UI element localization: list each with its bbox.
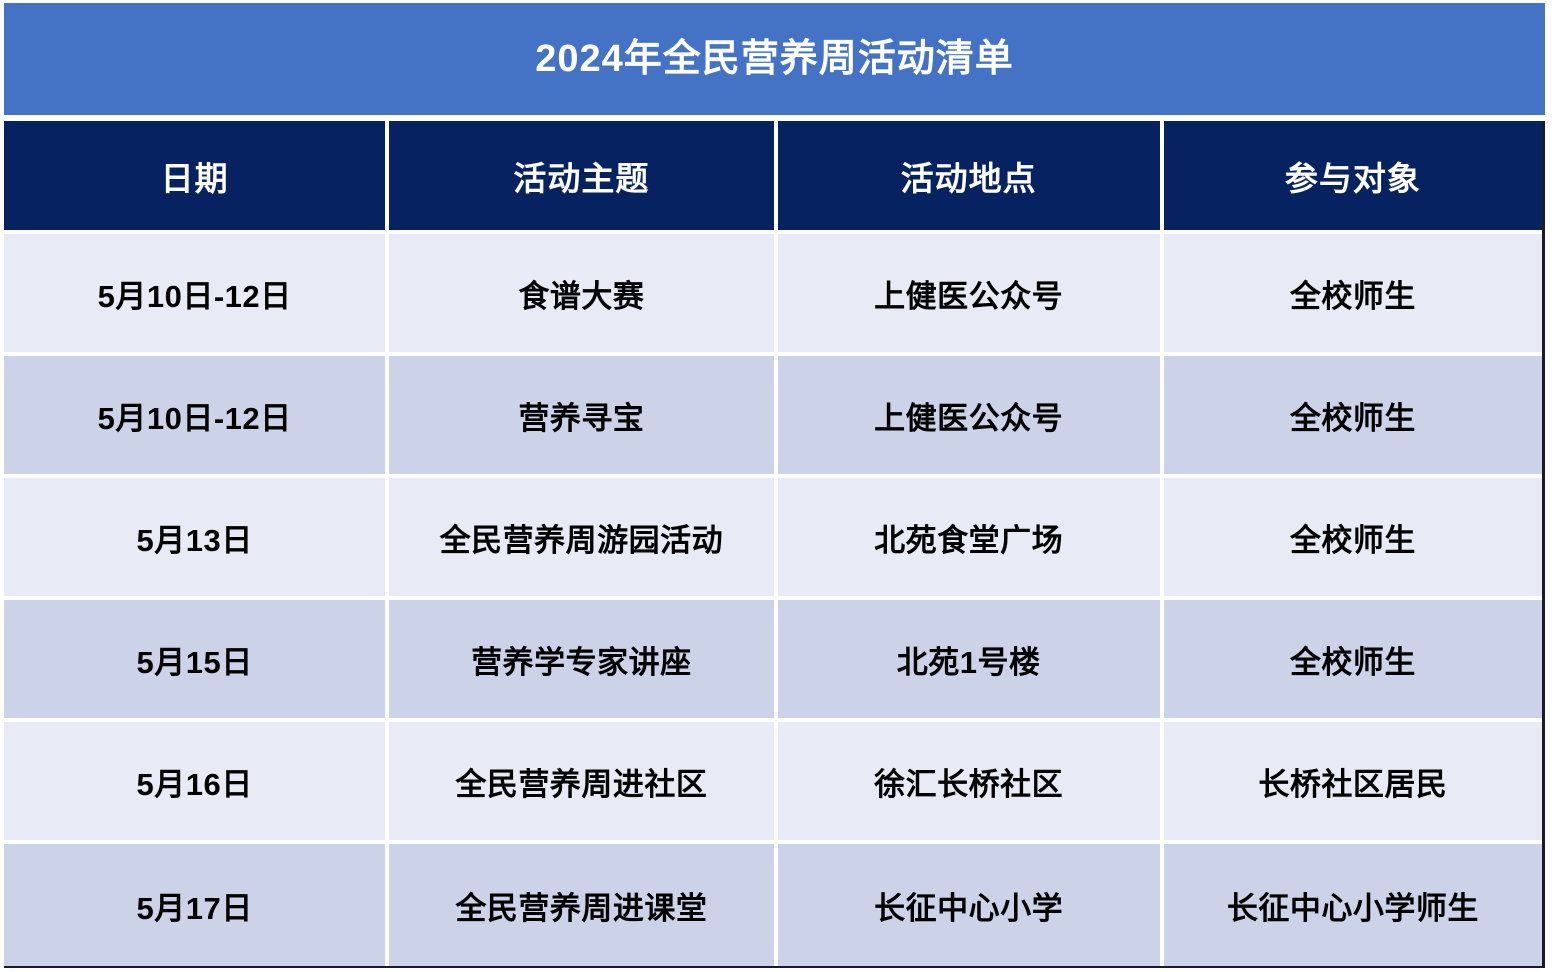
cell-theme: 全民营养周游园活动: [389, 478, 777, 600]
cell-place: 上健医公众号: [778, 356, 1164, 478]
cell-place: 上健医公众号: [778, 234, 1164, 356]
cell-theme: 食谱大赛: [389, 234, 777, 356]
page-title-banner: 2024年全民营养周活动清单: [4, 3, 1545, 115]
column-header-audience: 参与对象: [1164, 121, 1542, 234]
cell-theme: 营养寻宝: [389, 356, 777, 478]
page-title: 2024年全民营养周活动清单: [535, 40, 1014, 78]
table-row: 5月17日 全民营养周进课堂 长征中心小学 长征中心小学师生: [4, 844, 1542, 966]
column-header-theme: 活动主题: [389, 121, 777, 234]
cell-place: 徐汇长桥社区: [778, 722, 1164, 844]
table-row: 5月10日-12日 食谱大赛 上健医公众号 全校师生: [4, 234, 1542, 356]
cell-audience: 全校师生: [1164, 234, 1542, 356]
cell-date: 5月10日-12日: [4, 234, 389, 356]
cell-date: 5月13日: [4, 478, 389, 600]
cell-audience: 全校师生: [1164, 478, 1542, 600]
cell-date: 5月16日: [4, 722, 389, 844]
cell-place: 长征中心小学: [778, 844, 1164, 966]
cell-audience: 长征中心小学师生: [1164, 844, 1542, 966]
cell-theme: 全民营养周进社区: [389, 722, 777, 844]
activity-schedule-page: 2024年全民营养周活动清单 日期 活动主题 活动地点 参与对象 5月10日-1…: [0, 0, 1552, 972]
table-row: 5月13日 全民营养周游园活动 北苑食堂广场 全校师生: [4, 478, 1542, 600]
cell-place: 北苑食堂广场: [778, 478, 1164, 600]
column-header-date: 日期: [4, 121, 389, 234]
cell-date: 5月15日: [4, 600, 389, 722]
cell-date: 5月10日-12日: [4, 356, 389, 478]
table-row: 5月15日 营养学专家讲座 北苑1号楼 全校师生: [4, 600, 1542, 722]
cell-place: 北苑1号楼: [778, 600, 1164, 722]
cell-date: 5月17日: [4, 844, 389, 966]
table-header-row: 日期 活动主题 活动地点 参与对象: [4, 121, 1542, 234]
cell-theme: 营养学专家讲座: [389, 600, 777, 722]
table-row: 5月10日-12日 营养寻宝 上健医公众号 全校师生: [4, 356, 1542, 478]
cell-audience: 全校师生: [1164, 356, 1542, 478]
column-header-place: 活动地点: [778, 121, 1164, 234]
table-row: 5月16日 全民营养周进社区 徐汇长桥社区 长桥社区居民: [4, 722, 1542, 844]
cell-audience: 全校师生: [1164, 600, 1542, 722]
cell-theme: 全民营养周进课堂: [389, 844, 777, 966]
cell-audience: 长桥社区居民: [1164, 722, 1542, 844]
activity-table: 日期 活动主题 活动地点 参与对象 5月10日-12日 食谱大赛 上健医公众号 …: [4, 121, 1545, 968]
